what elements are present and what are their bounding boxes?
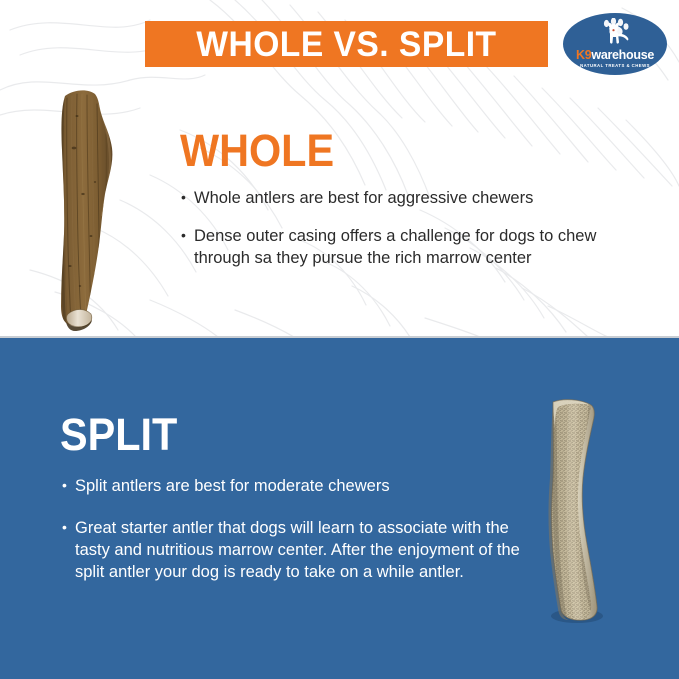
whole-bullet-list: Whole antlers are best for aggressive ch…	[181, 188, 626, 286]
list-item: Dense outer casing offers a challenge fo…	[181, 226, 626, 270]
whole-section: WHOLE VS. SPLIT	[0, 0, 679, 337]
list-item: Great starter antler that dogs will lear…	[62, 518, 522, 584]
logo-brand-warehouse: warehouse	[591, 48, 654, 62]
split-bullet-list: Split antlers are best for moderate chew…	[62, 476, 522, 604]
logo-brand-k9: K9	[576, 48, 591, 62]
logo-tagline: NATURAL TREATS & CHEWS	[580, 63, 650, 68]
infographic-page: WHOLE VS. SPLIT	[0, 0, 679, 679]
logo-brand-name: K9warehouse	[576, 49, 654, 62]
split-antler-image	[529, 396, 623, 624]
title-banner: WHOLE VS. SPLIT	[145, 21, 548, 67]
logo-text-block: K9warehouse NATURAL TREATS & CHEWS	[563, 13, 667, 75]
list-item: Whole antlers are best for aggressive ch…	[181, 188, 626, 210]
whole-heading: WHOLE	[180, 128, 334, 173]
brand-logo[interactable]: K9warehouse NATURAL TREATS & CHEWS	[563, 13, 667, 75]
whole-antler-image	[53, 86, 126, 332]
list-item: Split antlers are best for moderate chew…	[62, 476, 522, 498]
page-title: WHOLE VS. SPLIT	[196, 27, 496, 62]
split-heading: SPLIT	[60, 412, 177, 457]
